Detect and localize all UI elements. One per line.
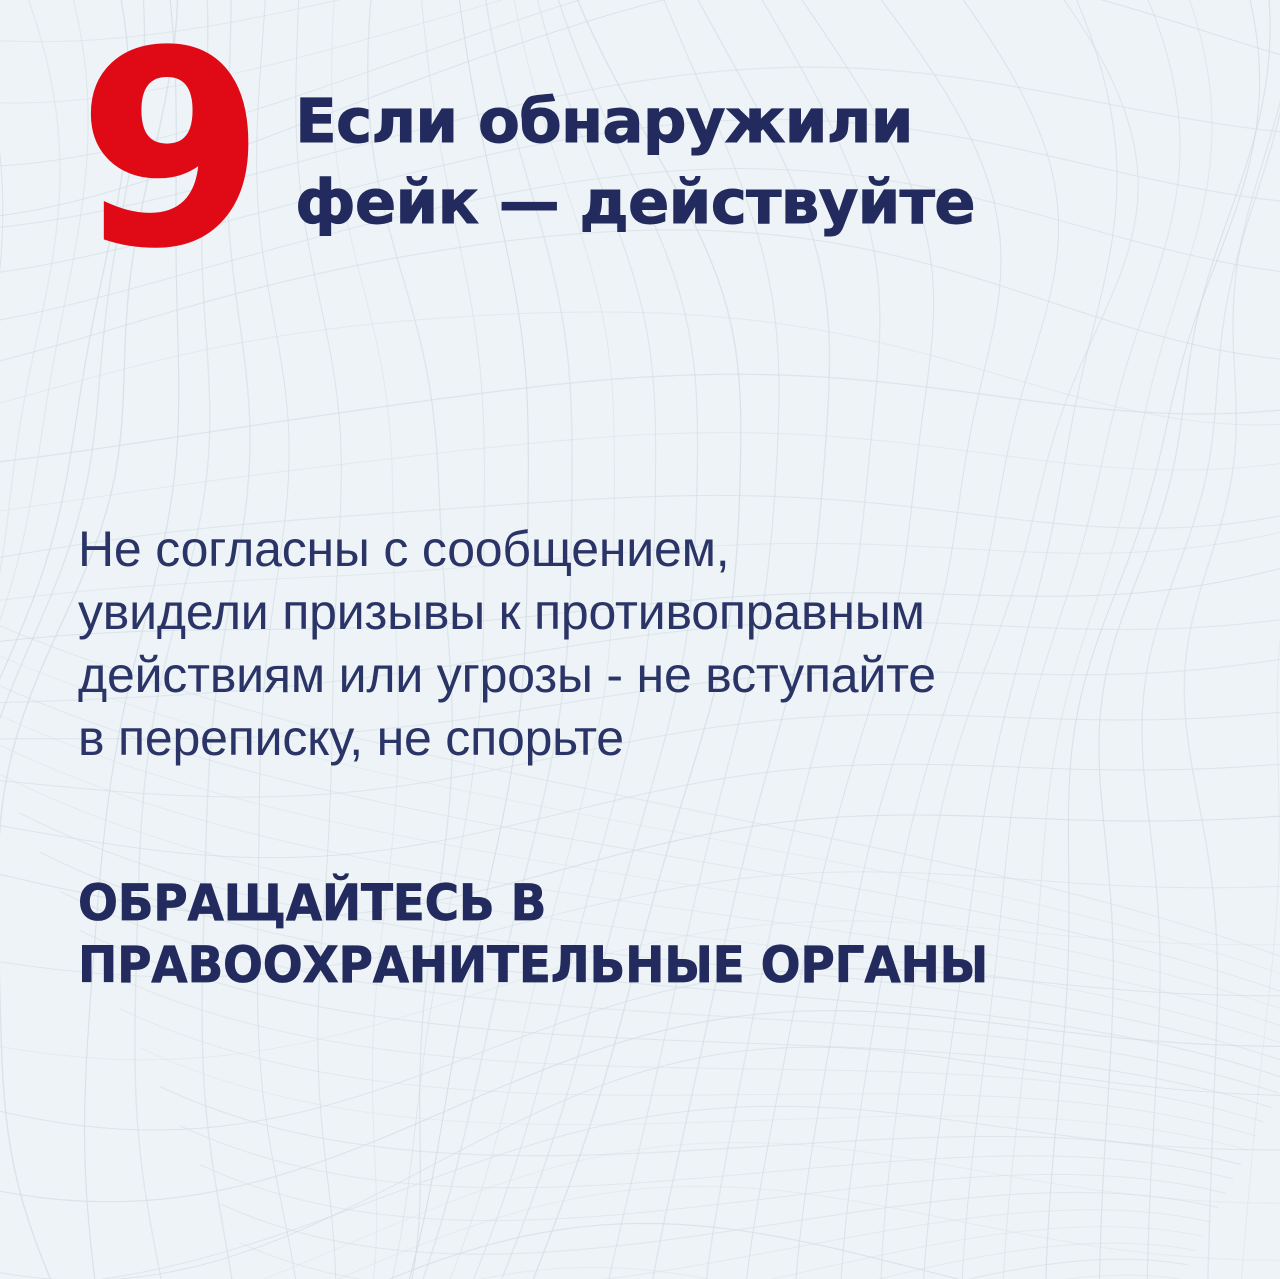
infographic-slide: 9 Если обнаружили фейк — действуйте Не с… [0, 0, 1280, 1279]
slide-content: 9 Если обнаружили фейк — действуйте Не с… [0, 0, 1280, 1279]
cta-line-1: ОБРАЩАЙТЕСЬ В [78, 872, 1093, 934]
body-line-3: действиям или угрозы - не вступайте [78, 644, 1138, 707]
heading-line-2: фейк — действуйте [295, 163, 1198, 244]
call-to-action: ОБРАЩАЙТЕСЬ В ПРАВООХРАНИТЕЛЬНЫЕ ОРГАНЫ [78, 872, 1093, 996]
body-line-1: Не согласны с сообщением, [78, 518, 1138, 581]
body-line-4: в переписку, не спорьте [78, 707, 1138, 770]
cta-line-2: ПРАВООХРАНИТЕЛЬНЫЕ ОРГАНЫ [78, 934, 1093, 996]
body-paragraph: Не согласны с сообщением, увидели призыв… [78, 518, 1138, 770]
body-line-2: увидели призывы к противоправным [78, 581, 1138, 644]
page-title: Если обнаружили фейк — действуйте [295, 82, 1198, 243]
step-number: 9 [78, 36, 259, 266]
heading-line-1: Если обнаружили [295, 82, 1198, 163]
header-row: 9 Если обнаружили фейк — действуйте [78, 48, 1198, 284]
